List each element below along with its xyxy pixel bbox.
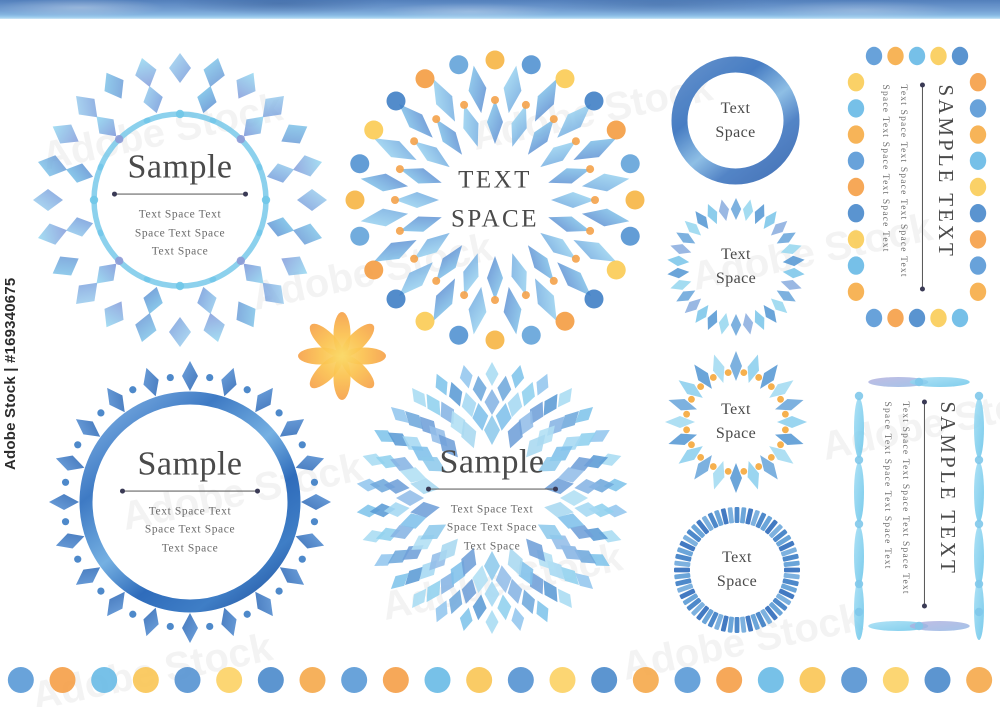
frame-text-block: TEXT SPACE (345, 161, 645, 239)
body-line: Space Text Space (352, 519, 632, 538)
frame-body: Text Space Text Space Text Space Text Sp… (352, 500, 632, 556)
frame-thick-ring-text-space: Text Space (663, 53, 808, 188)
vertical-text-block: SAMPLE TEXT Text Space Text Space Text S… (878, 402, 960, 607)
frame-vertical-dots-sample-text: SAMPLE TEXT Text Space Text Space Text S… (842, 42, 992, 332)
heading-line: Space (663, 121, 808, 145)
frame-heading: Text Space (665, 243, 807, 291)
frame-text-block: Sample Text Space Text Space Text Space … (352, 445, 632, 556)
eight-petal-flower-icon (292, 312, 392, 400)
heading-rule (122, 490, 258, 491)
body-line: Text Space Text (50, 502, 330, 521)
vertical-heading: SAMPLE TEXT (933, 85, 958, 290)
heading-line: Space (667, 570, 807, 594)
heading-line: Text (658, 398, 814, 422)
bottom-dot-border (0, 655, 1000, 705)
frame-vertical-leaf-sample-text: SAMPLE TEXT Text Space Text Space Text S… (845, 368, 993, 640)
heading-line: Text (665, 243, 807, 267)
frame-diamond-arc-sample: Sample Text Space Text Space Text Space … (30, 50, 330, 350)
frame-heading: Text Space (658, 398, 814, 446)
vertical-body: Text Space Text Space Text Space Text Sp… (878, 402, 914, 607)
heading-line: TEXT (345, 161, 645, 200)
body-line: Space Text Space (30, 224, 330, 243)
flower-ornament (292, 312, 392, 400)
frame-sunburst-text-space: TEXT SPACE (345, 50, 645, 350)
heading-line: Text (663, 97, 808, 121)
frame-ring-sample: Sample Text Space Text Space Text Space … (50, 360, 330, 640)
frame-heading: Sample (352, 445, 632, 479)
heading-line: SPACE (345, 200, 645, 239)
frame-diamond-ring-text-space: Text Space (665, 196, 807, 338)
frame-text-block: Sample Text Space Text Space Text Space … (30, 151, 330, 262)
frame-dashed-ring-text-space: Text Space (667, 502, 807, 638)
frame-heading: TEXT SPACE (345, 161, 645, 239)
frame-starburst-text-space: Text Space (658, 352, 814, 492)
body-line: Text Space Text (352, 500, 632, 519)
vertical-rule (922, 85, 923, 290)
top-watercolor-band (0, 0, 1000, 19)
heading-line: Text (667, 546, 807, 570)
vertical-heading: SAMPLE TEXT (935, 402, 960, 607)
frame-text-block: Text Space (667, 546, 807, 594)
body-line: Space Text Space (50, 521, 330, 540)
frame-body: Text Space Text Space Text Space Text Sp… (50, 502, 330, 558)
vertical-body: Text Space Text Space Text Space Text Sp… (876, 85, 912, 290)
vertical-text-block: SAMPLE TEXT Text Space Text Space Text S… (876, 85, 958, 290)
body-line: Text Space (50, 540, 330, 559)
heading-rule (114, 194, 246, 195)
heading-line: Space (665, 267, 807, 291)
frame-body: Text Space Text Space Text Space Text Sp… (30, 206, 330, 262)
dot-row-graphic (0, 655, 1000, 705)
adobe-stock-watermark: Adobe Stock | #169340675 (2, 278, 19, 470)
frame-text-block: Text Space (665, 243, 807, 291)
frame-text-block: Text Space (658, 398, 814, 446)
frame-mosaic-sample: Sample Text Space Text Space Text Space … (352, 362, 632, 634)
frame-text-block: Text Space (663, 97, 808, 145)
body-line: Text Space (30, 243, 330, 262)
frame-heading: Text Space (667, 546, 807, 594)
frame-heading: Sample (50, 447, 330, 481)
heading-rule (428, 488, 556, 489)
frame-heading: Text Space (663, 97, 808, 145)
frame-text-block: Sample Text Space Text Space Text Space … (50, 447, 330, 558)
body-line: Text Space (352, 538, 632, 557)
heading-line: Space (658, 422, 814, 446)
body-line: Text Space Text (30, 206, 330, 225)
artboard: Adobe Stock Adobe Stock Adobe Stock Adob… (0, 0, 1000, 707)
frame-heading: Sample (30, 151, 330, 185)
watermark-label: Adobe Stock | #169340675 (2, 278, 19, 470)
vertical-rule (924, 402, 925, 607)
